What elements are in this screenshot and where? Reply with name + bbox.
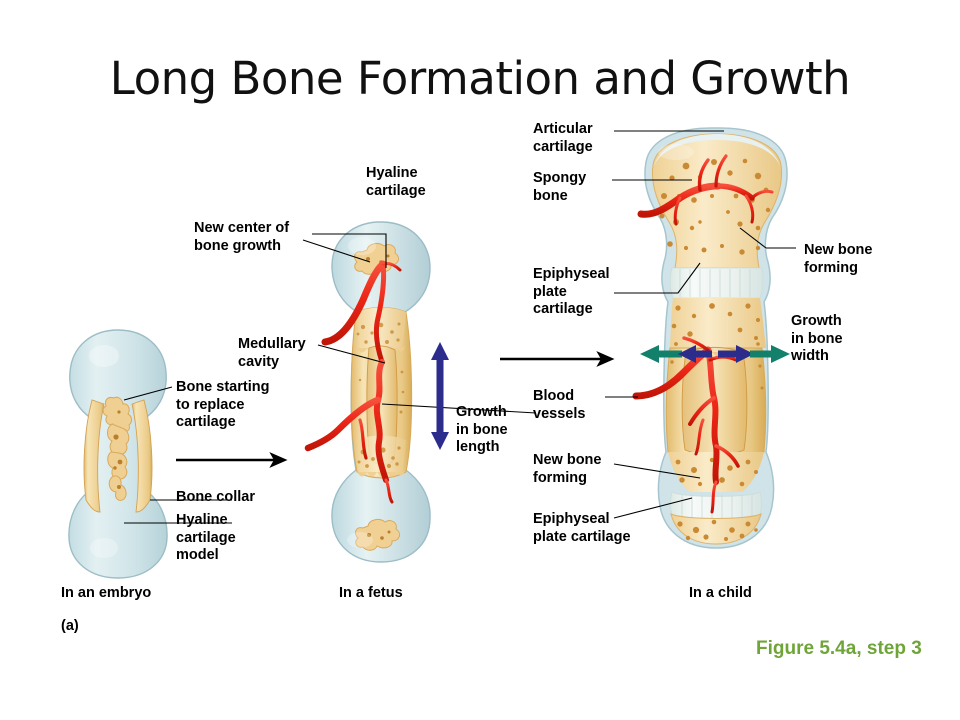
label-new-center-of-bone-growth: New center of bone growth bbox=[194, 220, 289, 255]
panel-caption-fetus: In a fetus bbox=[339, 585, 403, 601]
label-hyaline-cartilage: Hyaline cartilage bbox=[366, 165, 426, 200]
child-spongy-speckles-distal bbox=[676, 458, 758, 541]
embryo-bone-illustration bbox=[69, 330, 167, 578]
child-spongy-speckles-metaphysis bbox=[669, 303, 764, 389]
epiphyseal-plate-striations-bottom bbox=[682, 495, 752, 518]
growth-width-arrows bbox=[640, 345, 790, 363]
panel-caption-embryo: In an embryo bbox=[61, 585, 151, 601]
label-growth-in-bone-width: Growth in bone width bbox=[791, 313, 843, 366]
epiphyseal-plate-striations-top bbox=[680, 269, 750, 297]
slide-canvas: Long Bone Formation and Growth bbox=[0, 0, 960, 720]
page-title: Long Bone Formation and Growth bbox=[0, 52, 960, 105]
label-spongy-bone: Spongy bone bbox=[533, 170, 586, 205]
label-blood-vessels: Blood vessels bbox=[533, 388, 585, 423]
child-bone-illustration bbox=[636, 128, 787, 548]
child-leader-lines bbox=[605, 131, 796, 518]
child-spongy-speckles-proximal bbox=[660, 159, 771, 255]
fetus-spongy-speckles bbox=[357, 317, 405, 469]
label-bone-collar: Bone collar bbox=[176, 489, 255, 507]
child-blood-vessels bbox=[636, 156, 772, 512]
label-medullary-cavity: Medullary cavity bbox=[238, 336, 306, 371]
sub-label-a: (a) bbox=[61, 618, 79, 634]
label-articular-cartilage: Articular cartilage bbox=[533, 121, 593, 156]
fetus-ossification-centers bbox=[355, 243, 400, 550]
growth-length-arrow bbox=[431, 342, 449, 450]
label-hyaline-cartilage-model: Hyaline cartilage model bbox=[176, 512, 236, 565]
label-new-bone-forming-right: New bone forming bbox=[804, 242, 872, 277]
label-growth-in-bone-length: Growth in bone length bbox=[456, 404, 508, 457]
fetus-blood-vessels bbox=[308, 263, 400, 502]
label-bone-starting-to-replace-cartilage: Bone starting to replace cartilage bbox=[176, 379, 269, 432]
label-epiphyseal-plate-cartilage-top: Epiphyseal plate cartilage bbox=[533, 266, 610, 319]
label-new-bone-forming-left: New bone forming bbox=[533, 452, 601, 487]
fetus-bone-illustration bbox=[308, 222, 430, 562]
panel-caption-child: In a child bbox=[689, 585, 752, 601]
fetus-leader-lines bbox=[303, 234, 536, 413]
label-epiphyseal-plate-cartilage-bottom: Epiphyseal plate cartilage bbox=[533, 511, 631, 546]
embryo-ossification-center bbox=[103, 397, 131, 500]
figure-caption: Figure 5.4a, step 3 bbox=[756, 638, 922, 660]
